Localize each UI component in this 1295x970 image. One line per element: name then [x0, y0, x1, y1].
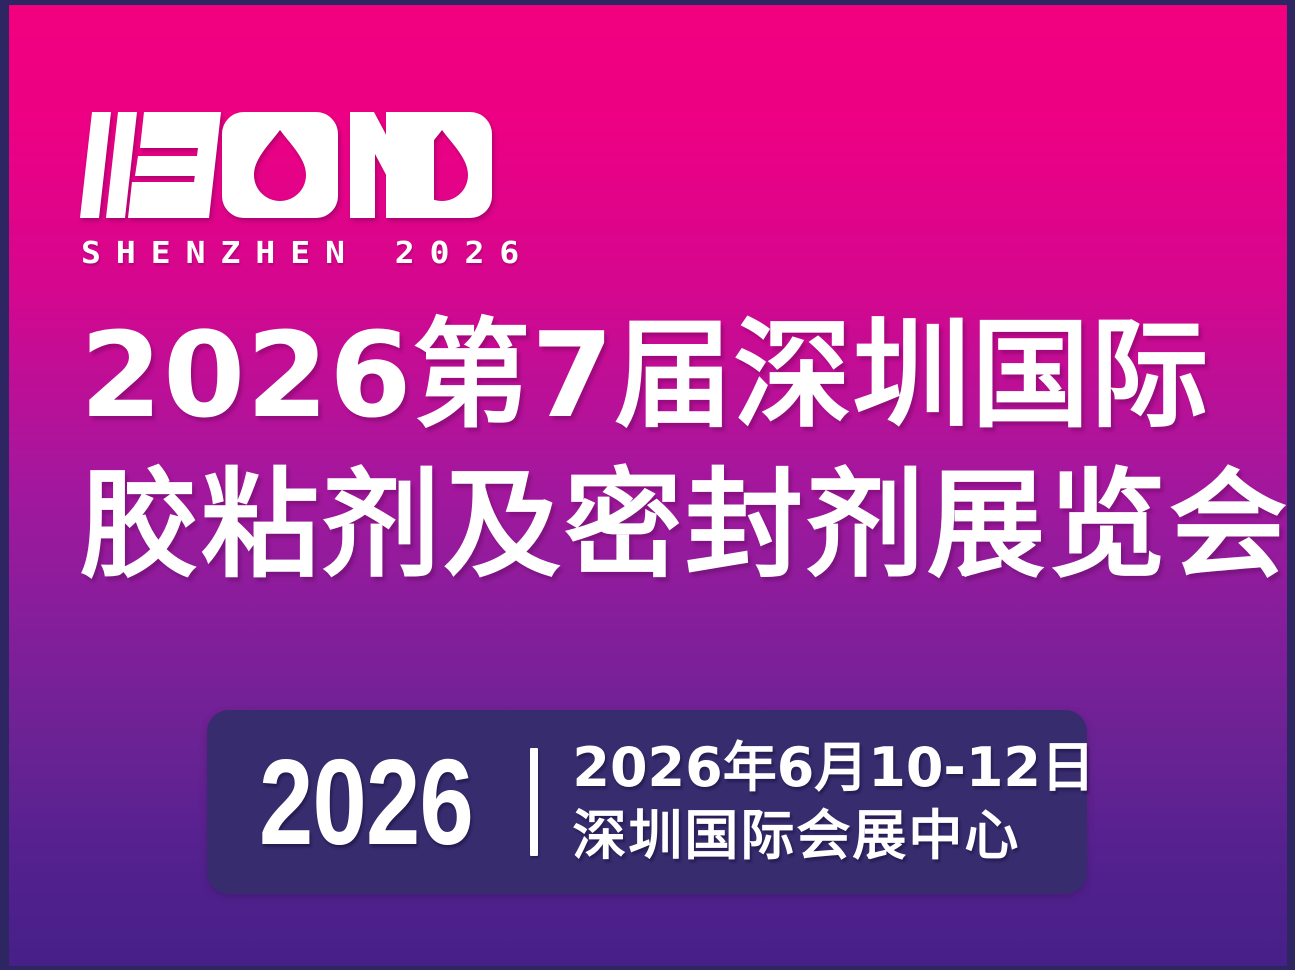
title-line-1: 2026第7届深圳国际	[80, 305, 1210, 445]
logo-subtitle: SHENZHEN 2026	[81, 237, 508, 267]
event-details: 2026年6月10-12日 深圳国际会展中心	[572, 737, 1095, 867]
bond-wordmark	[78, 106, 498, 224]
poster-content: SHENZHEN 2026 2026第7届深圳国际 胶粘剂及密封剂展览会 202…	[0, 0, 1295, 970]
vertical-divider	[530, 748, 538, 856]
event-info-box: 2026 2026年6月10-12日 深圳国际会展中心	[207, 710, 1087, 894]
brand-logo: SHENZHEN 2026	[78, 106, 508, 269]
event-year: 2026	[259, 741, 473, 863]
event-date: 2026年6月10-12日	[572, 737, 1095, 799]
event-venue: 深圳国际会展中心	[572, 805, 1095, 867]
page-title: 2026第7届深圳国际 胶粘剂及密封剂展览会	[80, 305, 1210, 595]
exhibition-poster: SHENZHEN 2026 2026第7届深圳国际 胶粘剂及密封剂展览会 202…	[0, 0, 1295, 970]
title-line-2: 胶粘剂及密封剂展览会	[80, 455, 1210, 595]
